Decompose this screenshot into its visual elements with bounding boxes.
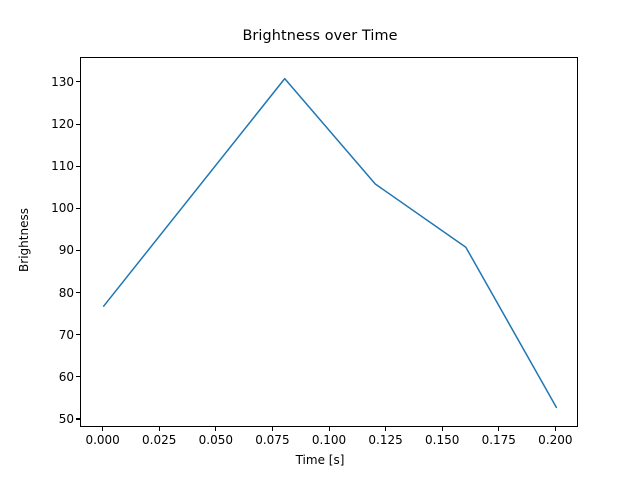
x-tick-label: 0.100 — [312, 433, 346, 447]
y-tick-label: 90 — [59, 243, 74, 257]
x-tick-label: 0.075 — [255, 433, 289, 447]
y-tick-label: 80 — [59, 286, 74, 300]
x-axis-label: Time [s] — [0, 453, 640, 467]
x-tick-label: 0.150 — [425, 433, 459, 447]
x-tick-label: 0.000 — [85, 433, 119, 447]
y-tick-label: 60 — [59, 370, 74, 384]
y-tick-label: 100 — [51, 201, 74, 215]
x-tick-label: 0.200 — [538, 433, 572, 447]
plot-area — [80, 57, 578, 427]
x-tick-label: 0.025 — [142, 433, 176, 447]
y-tick-label: 130 — [51, 75, 74, 89]
y-tick-label: 70 — [59, 328, 74, 342]
x-tick-label: 0.125 — [368, 433, 402, 447]
x-tick-label-group: 0.0000.0250.0500.0750.1000.1250.1500.175… — [0, 433, 640, 453]
y-tick-label-group: 5060708090100110120130 — [0, 0, 74, 480]
chart-title: Brightness over Time — [0, 28, 640, 44]
x-tick-label: 0.050 — [199, 433, 233, 447]
y-tick-label: 110 — [51, 159, 74, 173]
data-line-svg — [81, 58, 579, 428]
brightness-line-series — [104, 79, 557, 408]
x-tick-label: 0.175 — [482, 433, 516, 447]
y-tick-label: 120 — [51, 117, 74, 131]
y-tick-label: 50 — [59, 412, 74, 426]
figure-canvas: Brightness over Time Brightness Time [s]… — [0, 0, 640, 480]
